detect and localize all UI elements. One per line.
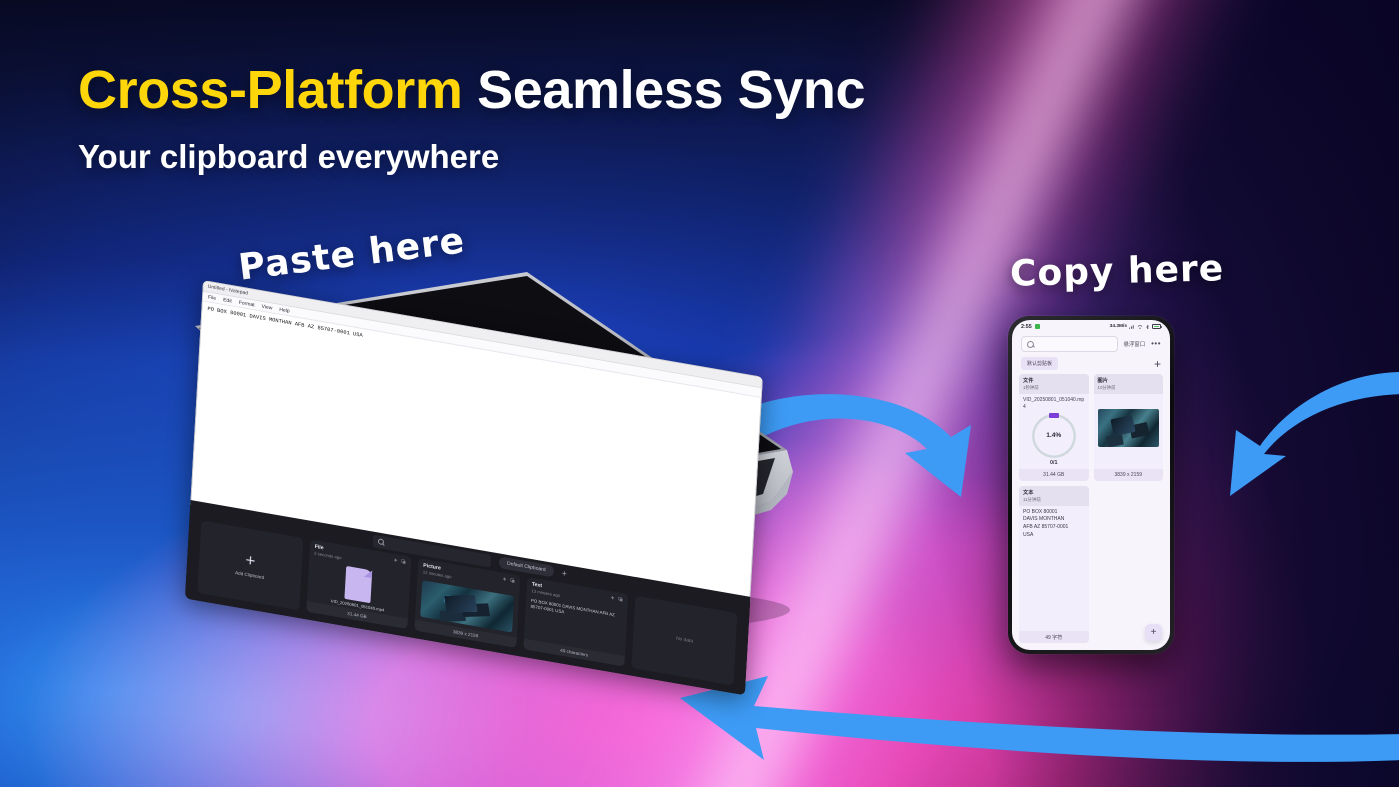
text-line: PO BOX 80001 [1023,509,1085,517]
add-clipboard-label: Add Clipboard [235,570,264,580]
more-dots-icon[interactable]: ••• [1151,340,1161,348]
pin-icon[interactable] [502,576,507,582]
phone-screen: 2:55 34.3M/s 悬浮窗口 [1012,320,1170,650]
headline-accent: Cross-Platform [78,60,462,120]
phone-device: 2:55 34.3M/s 悬浮窗口 [1008,316,1174,654]
float-window-button[interactable]: 悬浮窗口 [1124,340,1146,348]
card-footer: 49 字符 [1019,631,1089,643]
add-item-fab[interactable]: + [1145,624,1162,641]
phone-card-text[interactable]: 文本 11分钟前 PO BOX 80001 DAVIS MONTHAN AFB … [1019,486,1089,644]
progress-count: 0/1 [1050,460,1058,466]
file-document-icon [345,566,373,603]
laptop-device: Untitled - Notepad File Edit Format View… [175,258,795,678]
card-text-body: PO BOX 80001 DAVIS MONTHAN AFB AZ 85707-… [1023,509,1085,540]
status-right-group: 34.3M/s [1110,324,1161,330]
menu-format[interactable]: Format [239,299,255,308]
text-line: AFB AZ 85707-0001 [1023,524,1085,532]
phone-card-file[interactable]: 文件 1秒钟前 VID_20250801_051040.mp4 1.4% [1019,374,1089,481]
battery-icon [1152,324,1161,329]
signal-icon [1129,324,1135,330]
phone-card-row: 文件 1秒钟前 VID_20250801_051040.mp4 1.4% [1019,374,1163,481]
menu-file[interactable]: File [208,294,216,301]
card-title: 文本 [1023,489,1085,496]
search-icon [378,538,384,545]
menu-view[interactable]: View [261,303,272,311]
card-timestamp: 10分钟前 [1098,385,1160,391]
card-title: 图片 [1098,377,1160,384]
card-footer: 3839 x 2159 [1094,469,1164,481]
headline-rest: Seamless Sync [462,60,865,120]
bluetooth-icon [1145,324,1150,330]
card-footer: 31.44 GB [1019,469,1089,481]
menu-help[interactable]: Help [279,306,290,314]
phone-status-bar: 2:55 34.3M/s [1012,320,1170,333]
phone-card-slot-empty [1094,486,1164,644]
copy-icon[interactable] [618,596,623,602]
phone-search-input[interactable] [1021,336,1118,352]
card-title: 文件 [1023,377,1085,384]
add-clipboard-icon[interactable]: + [1154,358,1161,370]
promo-graphic: Cross-Platform Seamless Sync Your clipbo… [0,0,1399,787]
phone-card-grid: 文件 1秒钟前 VID_20250801_051040.mp4 1.4% [1012,374,1170,650]
copy-icon[interactable] [401,558,406,564]
plus-icon: + [245,552,256,570]
pin-icon[interactable] [610,595,615,601]
page-subtitle: Your clipboard everywhere [78,138,499,176]
menu-edit[interactable]: Edit [223,297,232,304]
card-filename: VID_20250801_051040.mp4 [1023,397,1085,411]
status-time: 2:55 [1021,324,1032,330]
progress-ring: 1.4% [1032,414,1076,458]
card-timestamp: 11分钟前 [1023,497,1085,503]
text-line: USA [1023,532,1085,540]
phone-chip-row: 默认剪贴板 + [1012,352,1170,374]
page-title: Cross-Platform Seamless Sync [78,59,865,121]
no-data-label: No data [676,636,693,644]
phone-card-row: 文本 11分钟前 PO BOX 80001 DAVIS MONTHAN AFB … [1019,486,1163,644]
text-line: DAVIS MONTHAN [1023,516,1085,524]
phone-frame: 2:55 34.3M/s 悬浮窗口 [1008,316,1174,654]
progress-percent: 1.4% [1032,414,1076,458]
network-speed: 34.3M/s [1110,324,1127,329]
image-thumbnail [1098,409,1160,447]
clipboard-profile-chip[interactable]: 默认剪贴板 [1021,357,1058,370]
add-clipboard-icon[interactable]: + [561,569,567,579]
card-timestamp: 1秒钟前 [1023,385,1085,391]
search-icon [1027,341,1034,348]
status-indicator-icon [1035,324,1040,329]
pin-icon[interactable] [393,557,398,563]
phone-card-image[interactable]: 图片 10分钟前 3839 x 2159 [1094,374,1164,481]
copy-icon[interactable] [510,577,515,583]
callout-copy-here: Copy here [1010,248,1225,295]
phone-search-row: 悬浮窗口 ••• [1012,333,1170,352]
wifi-icon [1137,324,1143,330]
